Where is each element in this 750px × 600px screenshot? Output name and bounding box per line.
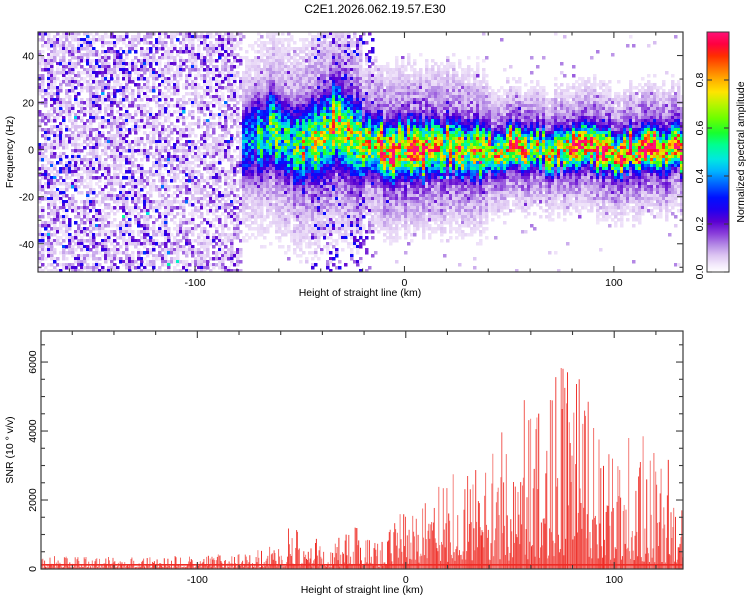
spectrogram-ytick-label: 20 — [22, 98, 34, 110]
colorbar-tick-label: 0.2 — [694, 217, 706, 232]
spectrogram-ytick-label: -40 — [19, 239, 34, 251]
snr-plot-area — [41, 331, 683, 569]
spectrogram-xtick-label: 100 — [605, 277, 623, 289]
spectrogram-panel: -100010040200-20-40 Height of straight l… — [4, 32, 683, 299]
snr-ylabel: SNR (10 ° v/v) — [4, 416, 16, 483]
snr-panel: -10001000200040006000 Height of straight… — [4, 331, 683, 596]
spectrogram-xlabel: Height of straight line (km) — [299, 287, 422, 299]
snr-ytick-label: 6000 — [27, 350, 39, 374]
colorbar-tick-labels: 0.00.20.40.60.8 — [694, 73, 706, 280]
figure-container: C2E1.2026.062.19.57.E30 — [0, 0, 750, 600]
colorbar-tick-label: 0.6 — [694, 121, 706, 136]
colorbar-tick-label: 0.0 — [694, 265, 706, 280]
spectrogram-ytick-label: 0 — [28, 145, 34, 157]
spectrogram-ylabel: Frequency (Hz) — [4, 116, 16, 188]
spectrogram-ytick-label: 40 — [22, 51, 34, 63]
snr-xlabel: Height of straight line (km) — [301, 584, 424, 596]
spectrogram-xtick-label: -100 — [185, 277, 206, 289]
colorbar-tick-label: 0.4 — [694, 169, 706, 184]
colorbar: 0.00.20.40.60.8 Normalized spectral ampl… — [694, 32, 747, 279]
snr-xtick-label: 100 — [605, 574, 623, 586]
snr-ytick-label: 0 — [27, 566, 39, 572]
colorbar-tick-label: 0.8 — [694, 73, 706, 88]
colorbar-gradient — [707, 32, 729, 272]
plot-canvas: -100010040200-20-40 Height of straight l… — [0, 0, 750, 600]
colorbar-label: Normalized spectral amplitude — [735, 81, 747, 222]
snr-ytick-label: 2000 — [27, 488, 39, 512]
snr-ytick-label: 4000 — [27, 419, 39, 443]
spectrogram-ytick-label: -20 — [19, 192, 34, 204]
figure-title: C2E1.2026.062.19.57.E30 — [0, 2, 750, 16]
snr-xtick-label: -100 — [187, 574, 208, 586]
